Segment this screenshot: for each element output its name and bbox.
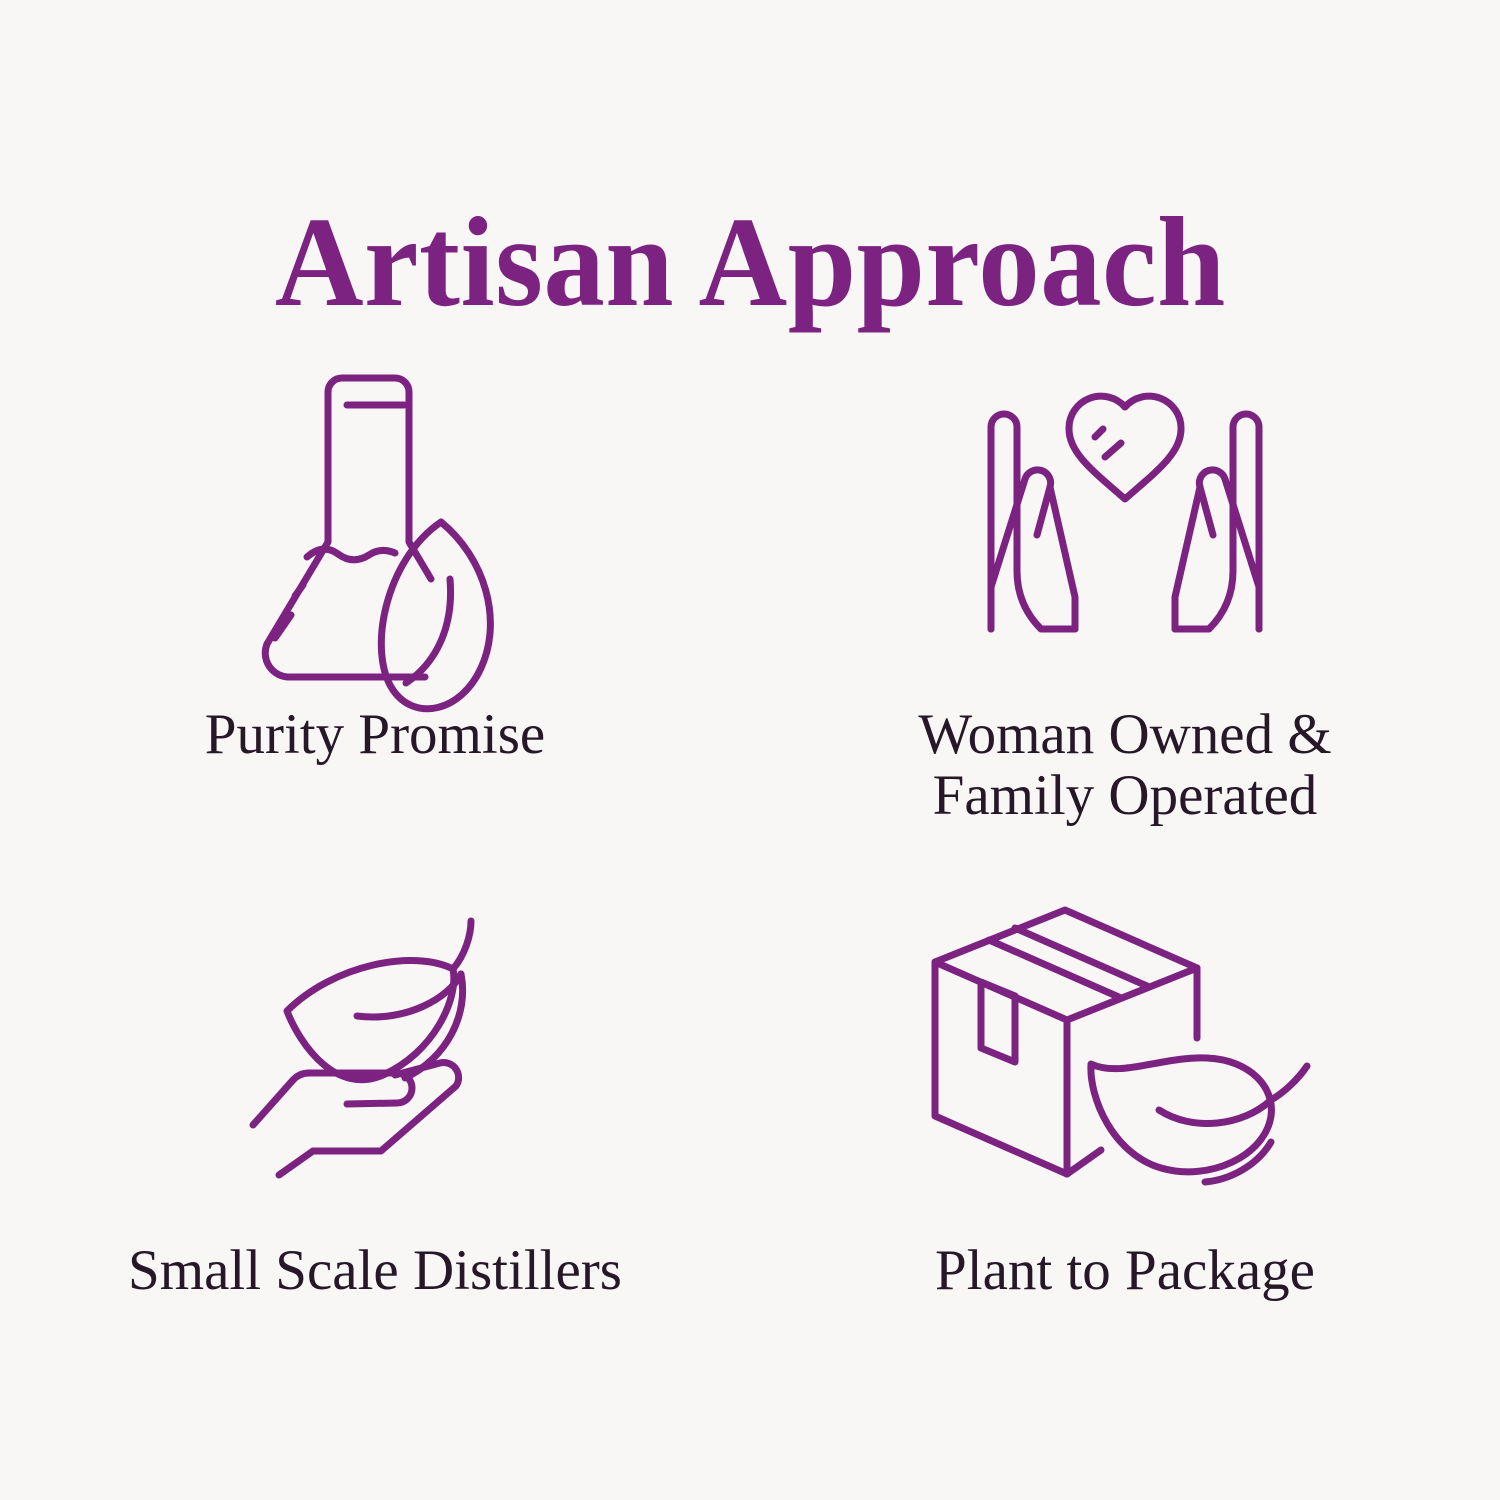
feature-icon-slot	[245, 360, 505, 660]
feature-icon-slot	[965, 360, 1285, 660]
feature-woman-owned-family-operated: Woman Owned & Family Operated	[750, 360, 1500, 830]
box-leaf-icon	[915, 898, 1335, 1183]
flask-leaf-icon	[245, 360, 505, 660]
feature-small-scale-distillers: Small Scale Distillers	[0, 900, 750, 1370]
feature-purity-promise: Purity Promise	[0, 360, 750, 830]
feature-grid: Purity Promise	[0, 360, 1500, 1370]
leaf-in-hand-icon	[245, 903, 505, 1178]
feature-icon-slot	[915, 900, 1335, 1180]
artisan-approach-panel: Artisan Approach	[0, 0, 1500, 1500]
feature-label: Plant to Package	[935, 1240, 1315, 1301]
feature-label: Purity Promise	[205, 704, 545, 765]
feature-label: Small Scale Distillers	[128, 1240, 622, 1301]
hands-heart-icon	[965, 375, 1285, 645]
page-title: Artisan Approach	[274, 198, 1225, 326]
feature-icon-slot	[245, 900, 505, 1180]
feature-label: Woman Owned & Family Operated	[918, 704, 1331, 826]
feature-plant-to-package: Plant to Package	[750, 900, 1500, 1370]
